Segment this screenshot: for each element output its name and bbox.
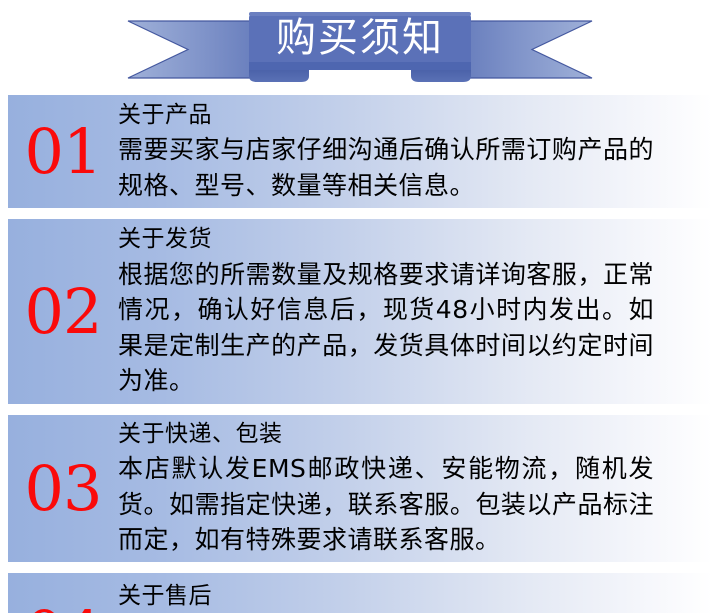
notice-section-03: 03 关于快递、包装 本店默认发EMS邮政快递、安能物流，随机发货。如需指定快递… — [8, 415, 712, 562]
section-text-01: 需要买家与店家仔细沟通后确认所需订购产品的规格、型号、数量等相关信息。 — [118, 132, 654, 203]
section-body-02: 关于发货 根据您的所需数量及规格要求请详询客服，正常情况，确认好信息后，现货48… — [118, 224, 712, 398]
ribbon-center-plaque — [249, 12, 471, 70]
section-body-03: 关于快递、包装 本店默认发EMS邮政快递、安能物流，随机发货。如需指定快递，联系… — [118, 419, 712, 558]
section-body-04: 关于售后 — [118, 573, 712, 613]
section-number-04: 04 — [8, 573, 118, 613]
section-number-03: 03 — [8, 458, 118, 520]
notice-section-list: 01 关于产品 需要买家与店家仔细沟通后确认所需订购产品的规格、型号、数量等相关… — [0, 95, 720, 613]
section-heading-02: 关于发货 — [118, 224, 654, 255]
section-number-02: 02 — [8, 281, 118, 343]
section-heading-01: 关于产品 — [118, 100, 654, 131]
purchase-notice-page: 购买须知 01 关于产品 需要买家与店家仔细沟通后确认所需订购产品的规格、型号、… — [0, 0, 720, 613]
section-heading-04: 关于售后 — [118, 581, 654, 612]
notice-section-04: 04 关于售后 — [8, 573, 712, 613]
ribbon-banner-graphic — [0, 0, 720, 95]
section-text-02: 根据您的所需数量及规格要求请详询客服，正常情况，确认好信息后，现货48小时内发出… — [118, 257, 654, 399]
section-number-01: 01 — [8, 121, 118, 183]
section-body-01: 关于产品 需要买家与店家仔细沟通后确认所需订购产品的规格、型号、数量等相关信息。 — [118, 100, 712, 203]
section-text-03: 本店默认发EMS邮政快递、安能物流，随机发货。如需指定快递，联系客服。包装以产品… — [118, 451, 654, 558]
notice-section-02: 02 关于发货 根据您的所需数量及规格要求请详询客服，正常情况，确认好信息后，现… — [8, 219, 712, 404]
ribbon-tail-right — [452, 21, 592, 78]
ribbon-tail-left — [128, 21, 268, 78]
notice-section-01: 01 关于产品 需要买家与店家仔细沟通后确认所需订购产品的规格、型号、数量等相关… — [8, 95, 712, 208]
section-heading-03: 关于快递、包装 — [118, 419, 654, 450]
ribbon-header: 购买须知 — [0, 0, 720, 95]
